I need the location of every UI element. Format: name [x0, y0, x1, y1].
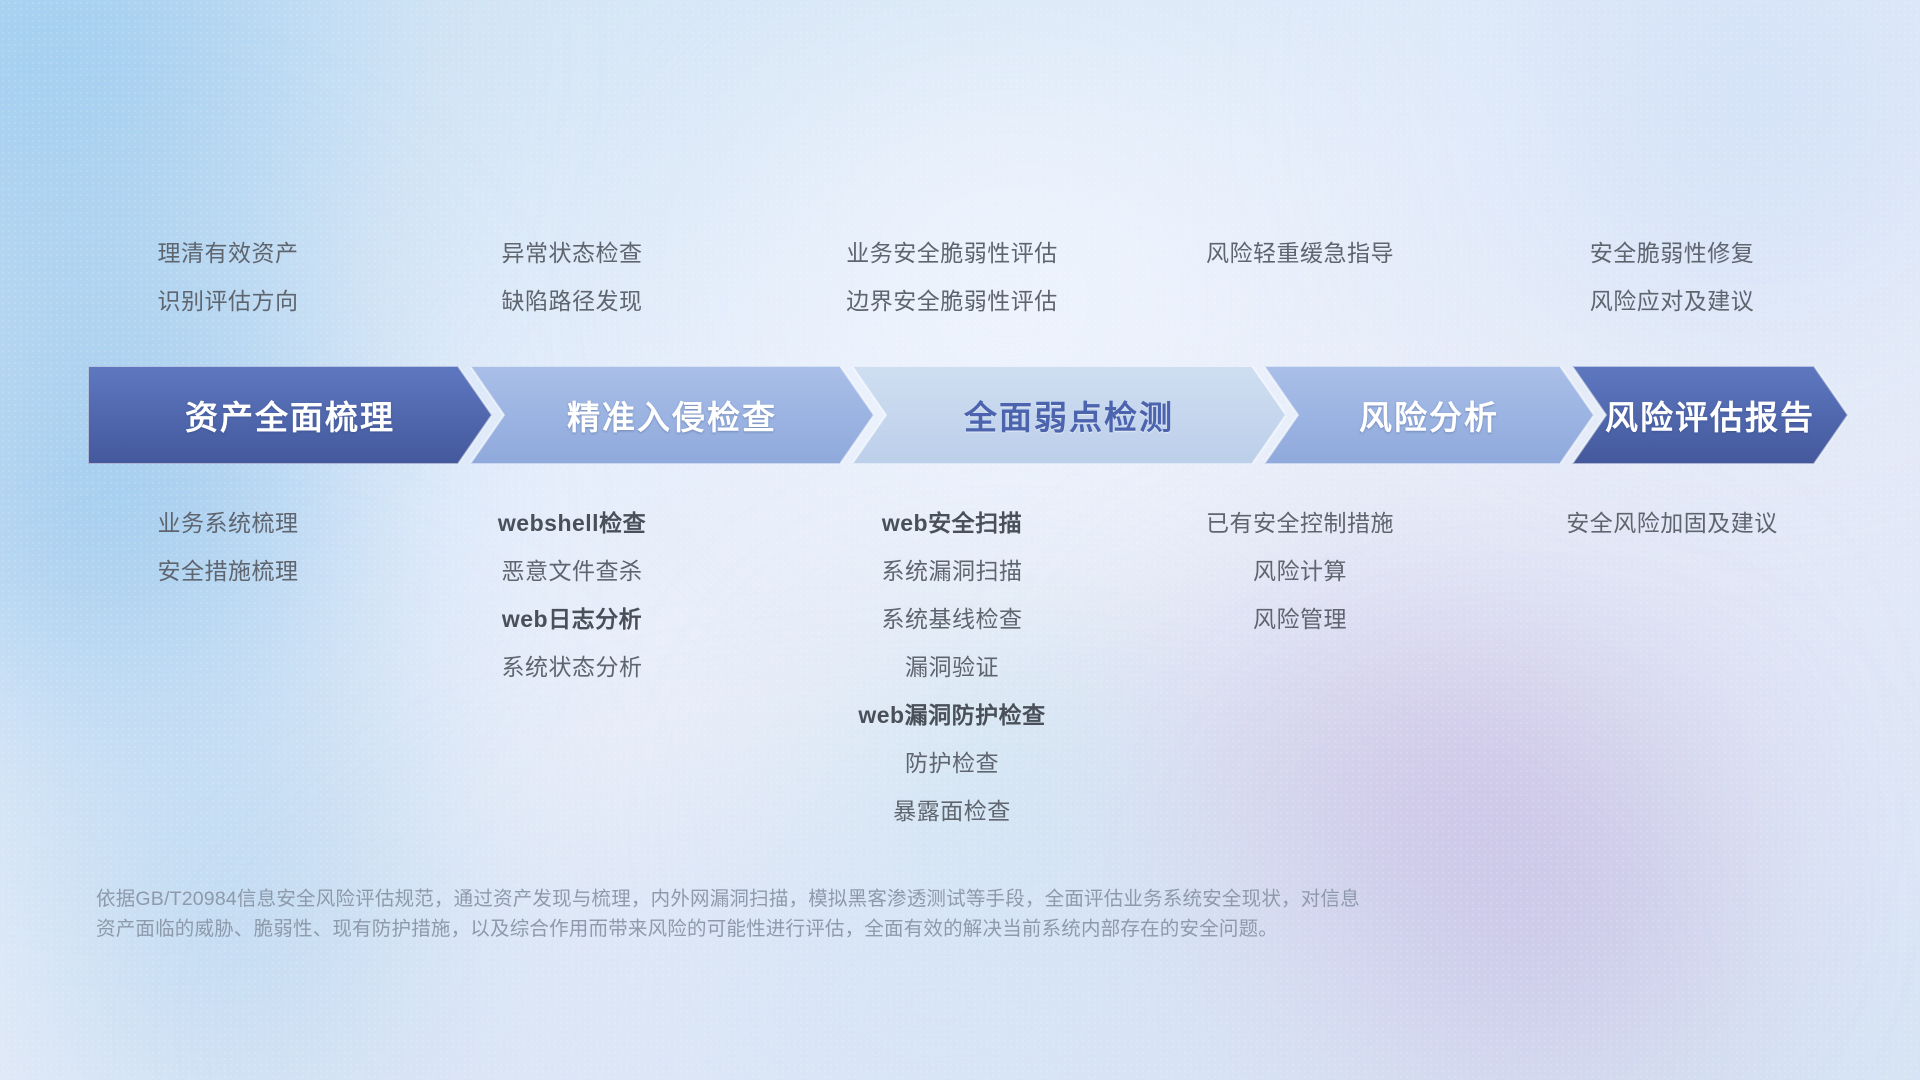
bottom-item: 安全风险加固及建议 — [1412, 512, 1920, 535]
bottom-item: 风险计算 — [1040, 560, 1560, 583]
bottom-item: 防护检查 — [692, 752, 1212, 775]
slide-canvas: 理清有效资产识别评估方向异常状态检查缺陷路径发现业务安全脆弱性评估边界安全脆弱性… — [0, 0, 1920, 1080]
process-arrow-risk-report[interactable]: 风险评估报告 — [1572, 366, 1848, 464]
process-arrow-weakness-detection[interactable]: 全面弱点检测 — [852, 366, 1286, 464]
top-item: 安全脆弱性修复 — [1412, 242, 1920, 265]
process-arrow-risk-analysis[interactable]: 风险分析 — [1264, 366, 1594, 464]
process-arrow-asset-inventory[interactable]: 资产全面梳理 — [88, 366, 492, 464]
footer-description: 依据GB/T20984信息安全风险评估规范，通过资产发现与梳理，内外网漏洞扫描，… — [96, 884, 1616, 944]
process-arrow-label: 全面弱点检测 — [964, 391, 1174, 439]
bottom-item: 暴露面检查 — [692, 800, 1212, 823]
top-item: 边界安全脆弱性评估 — [692, 290, 1212, 313]
process-arrow-label: 风险分析 — [1359, 391, 1499, 439]
top-item: 风险应对及建议 — [1412, 290, 1920, 313]
bottom-item: 漏洞验证 — [692, 656, 1212, 679]
bottom-item: web漏洞防护检查 — [692, 704, 1212, 727]
process-arrow-label: 风险评估报告 — [1605, 391, 1815, 439]
process-arrow-band: 资产全面梳理精准入侵检查全面弱点检测风险分析风险评估报告 — [88, 366, 1848, 464]
bottom-column-risk-report: 安全风险加固及建议 — [1412, 512, 1920, 535]
footer-line-1: 依据GB/T20984信息安全风险评估规范，通过资产发现与梳理，内外网漏洞扫描，… — [96, 884, 1616, 914]
top-column-risk-report: 安全脆弱性修复风险应对及建议 — [1412, 242, 1920, 313]
process-arrow-label: 精准入侵检查 — [567, 391, 777, 439]
process-arrow-intrusion-check[interactable]: 精准入侵检查 — [470, 366, 874, 464]
bottom-item: 风险管理 — [1040, 608, 1560, 631]
process-arrow-label: 资产全面梳理 — [185, 391, 395, 439]
footer-line-2: 资产面临的威胁、脆弱性、现有防护措施，以及综合作用而带来风险的可能性进行评估，全… — [96, 914, 1616, 944]
